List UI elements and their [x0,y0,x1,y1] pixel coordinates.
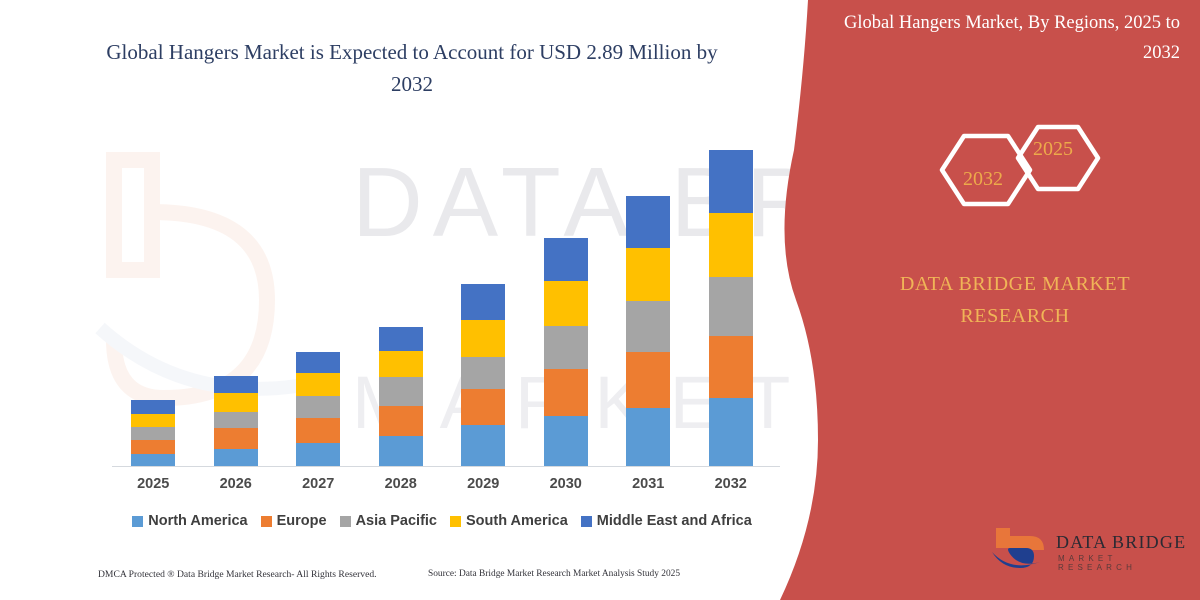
x-axis-label-2029: 2029 [448,476,518,492]
bar-segment [296,418,340,442]
chart-legend: North AmericaEuropeAsia PacificSouth Ame… [112,513,772,529]
bar-segment [214,393,258,412]
data-bridge-logo: DATA BRIDGE MARKET RESEARCH [990,524,1190,584]
bar-segment [626,301,670,352]
bar-2027 [296,352,340,467]
legend-swatch-icon [581,516,592,527]
bar-2029 [461,284,505,467]
legend-item[interactable]: Europe [261,513,327,529]
bar-segment [296,443,340,467]
legend-item[interactable]: Asia Pacific [340,513,437,529]
bar-2026 [214,376,258,467]
bar-segment [296,373,340,395]
x-axis-label-2030: 2030 [531,476,601,492]
bar-segment [131,427,175,440]
x-axis-label-2031: 2031 [613,476,683,492]
bar-segment [461,320,505,357]
hexagon-2025-label: 2025 [1033,138,1073,161]
bar-2025 [131,400,175,467]
bar-segment [544,281,588,326]
legend-swatch-icon [340,516,351,527]
bar-segment [379,351,423,378]
hexagon-badges: 2032 2025 [920,110,1120,250]
legend-item[interactable]: North America [132,513,247,529]
bar-2031 [626,196,670,467]
bar-segment [131,400,175,414]
bar-segment [544,369,588,416]
logo-title: DATA BRIDGE [1056,532,1186,553]
bar-segment [626,408,670,467]
footer: DMCA Protected ® Data Bridge Market Rese… [0,569,800,589]
legend-swatch-icon [261,516,272,527]
footer-dmca-text: DMCA Protected ® Data Bridge Market Rese… [98,569,377,580]
bar-segment [626,248,670,301]
legend-item-label: Europe [277,513,327,529]
legend-item-label: Middle East and Africa [597,513,752,529]
panel-title: Global Hangers Market, By Regions, 2025 … [830,8,1180,68]
logo-subtitle: MARKET RESEARCH [1058,554,1190,572]
bar-segment [709,150,753,213]
logo-mark-icon [990,524,1052,576]
x-axis-line [112,466,780,467]
bar-segment [544,416,588,467]
bar-segment [214,412,258,428]
bar-segment [461,284,505,320]
bar-segment [709,336,753,397]
bar-segment [709,277,753,336]
bar-segment [131,440,175,453]
bar-segment [461,425,505,467]
bar-segment [214,376,258,392]
bar-segment [214,449,258,467]
legend-swatch-icon [132,516,143,527]
brand-name: DATA BRIDGE MARKET RESEARCH [880,268,1150,332]
infographic-canvas: DATA BRIDGE MARKET RESEARCH Global Hange… [0,0,1200,600]
bar-segment [626,352,670,408]
bar-segment [214,428,258,448]
x-axis-label-2032: 2032 [696,476,766,492]
x-axis-label-2027: 2027 [283,476,353,492]
bar-segment [379,406,423,437]
legend-item[interactable]: Middle East and Africa [581,513,752,529]
bar-segment [296,396,340,418]
bar-segment [379,377,423,406]
bar-segment [461,389,505,425]
hexagon-2032-label: 2032 [963,168,1003,191]
legend-item[interactable]: South America [450,513,568,529]
bar-chart-plot-area [112,120,772,467]
bar-segment [709,213,753,277]
legend-item-label: South America [466,513,568,529]
bar-segment [626,196,670,248]
bar-segment [131,454,175,467]
bar-segment [461,357,505,390]
chart-title: Global Hangers Market is Expected to Acc… [92,36,732,100]
footer-source-text: Source: Data Bridge Market Research Mark… [428,569,680,579]
x-axis-label-2028: 2028 [366,476,436,492]
bar-segment [379,436,423,467]
legend-item-label: Asia Pacific [356,513,437,529]
bar-2028 [379,327,423,467]
bar-segment [131,414,175,427]
x-axis-label-2026: 2026 [201,476,271,492]
bar-2030 [544,238,588,467]
bar-2032 [709,150,753,467]
legend-item-label: North America [148,513,247,529]
bar-segment [296,352,340,373]
x-axis-labels: 20252026202720282029203020312032 [112,476,772,500]
bar-segment [544,326,588,369]
bar-segment [544,238,588,281]
bar-segment [379,327,423,350]
legend-swatch-icon [450,516,461,527]
x-axis-label-2025: 2025 [118,476,188,492]
bar-segment [709,398,753,467]
